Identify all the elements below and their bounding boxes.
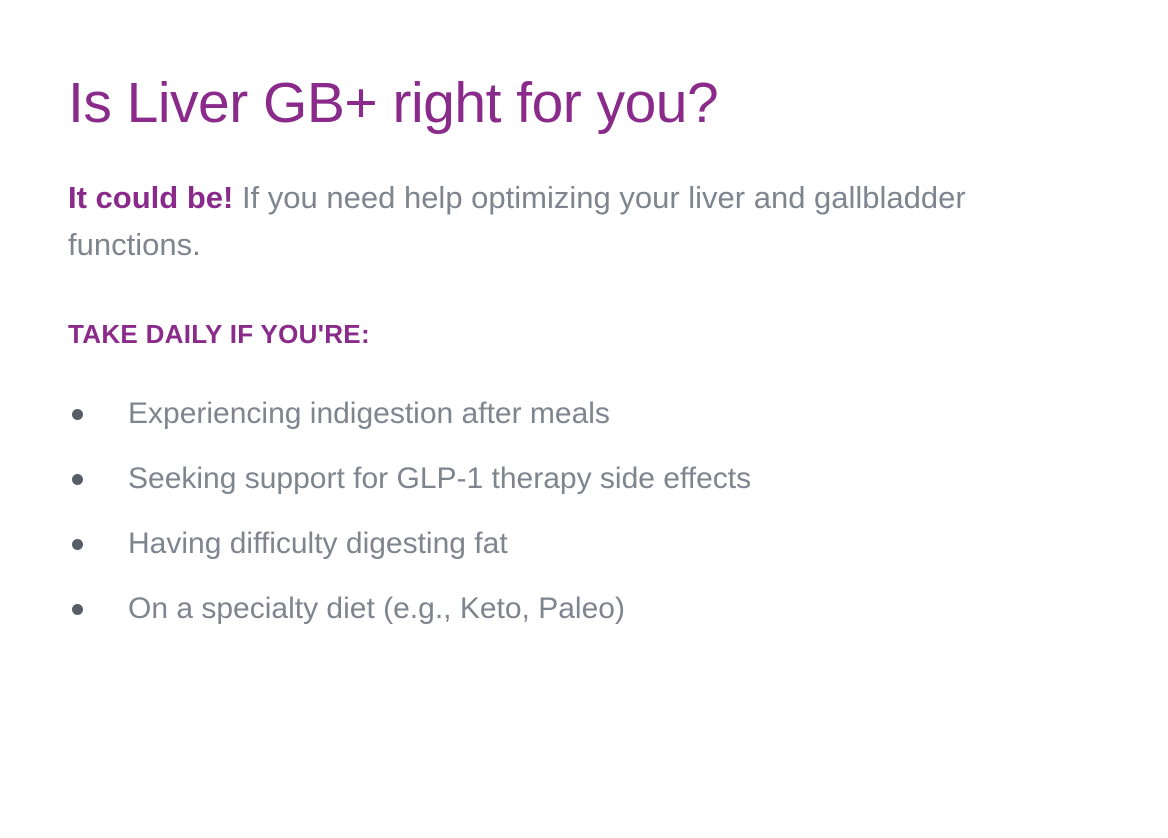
bullet-icon <box>72 409 83 420</box>
list-item: On a specialty diet (e.g., Keto, Paleo) <box>68 589 1100 628</box>
bullet-icon <box>72 539 83 550</box>
intro-lead-emphasis: It could be! <box>68 180 233 215</box>
take-daily-subheading: TAKE DAILY IF YOU'RE: <box>68 268 1100 352</box>
bullet-icon <box>72 474 83 485</box>
list-item-label: Seeking support for GLP-1 therapy side e… <box>128 462 751 495</box>
list-item: Seeking support for GLP-1 therapy side e… <box>68 459 1100 498</box>
list-item-label: Having difficulty digesting fat <box>128 527 508 560</box>
list-item: Having difficulty digesting fat <box>68 524 1100 563</box>
list-item: Experiencing indigestion after meals <box>68 394 1100 433</box>
bullet-icon <box>72 604 83 615</box>
list-item-label: On a specialty diet (e.g., Keto, Paleo) <box>128 592 625 625</box>
criteria-list: Experiencing indigestion after meals See… <box>68 352 1100 628</box>
list-item-label: Experiencing indigestion after meals <box>128 397 610 430</box>
product-suitability-section: Is Liver GB+ right for you? It could be!… <box>0 0 1168 838</box>
intro-paragraph: It could be! If you need help optimizing… <box>68 136 1100 268</box>
page-title: Is Liver GB+ right for you? <box>68 0 1100 136</box>
